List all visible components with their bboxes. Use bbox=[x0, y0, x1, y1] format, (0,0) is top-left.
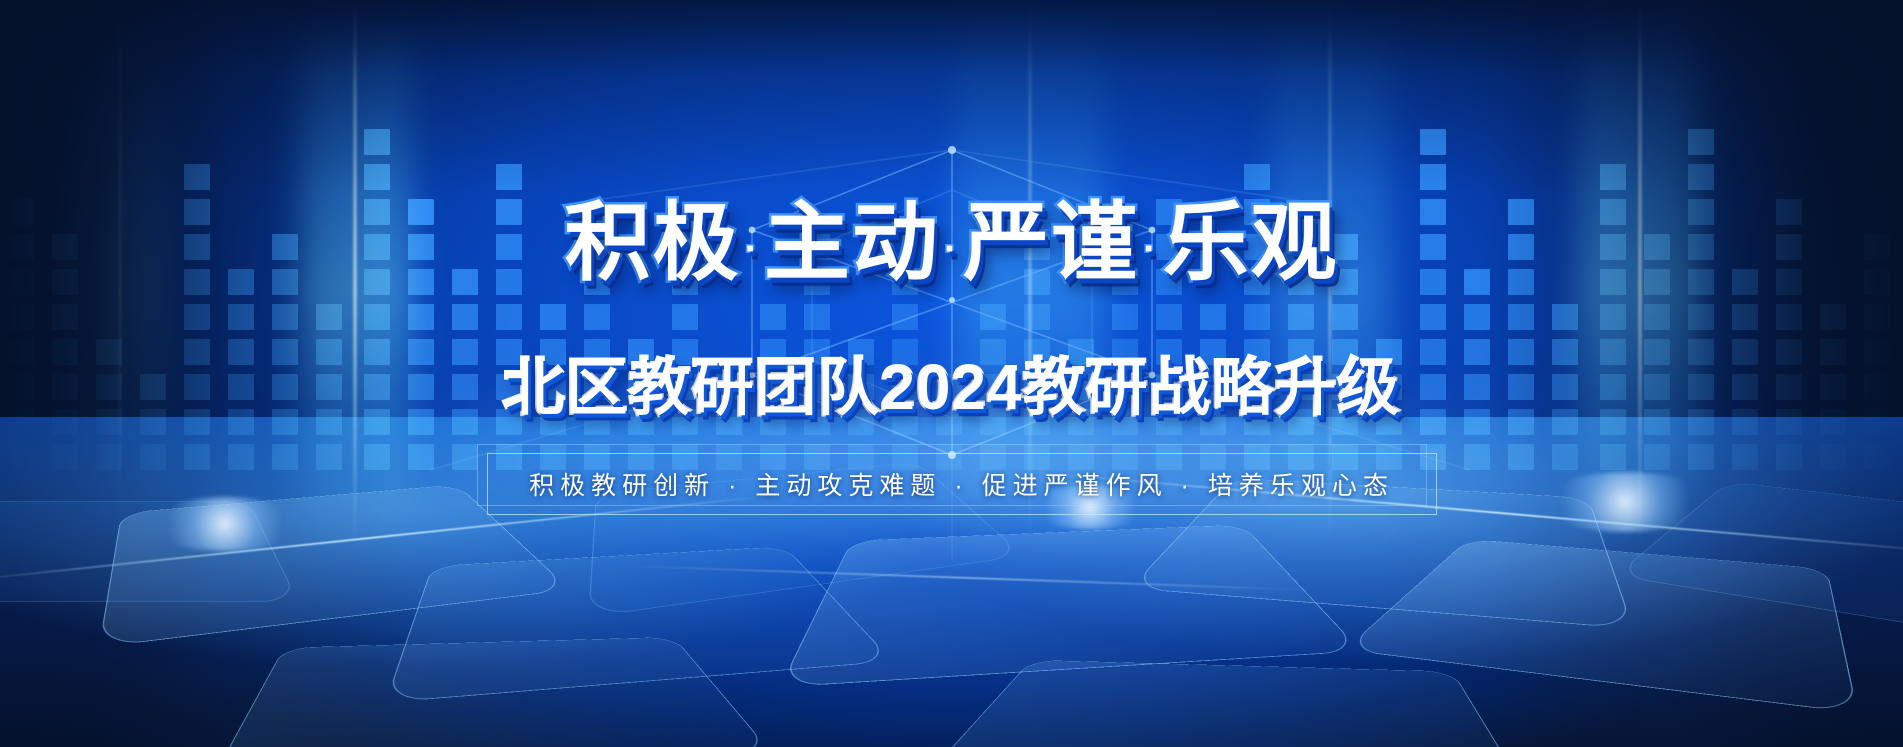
tagline-frame: 积极教研创新 · 主动攻克难题 · 促进严谨作风 · 培养乐观心态 bbox=[487, 453, 1437, 515]
tagline-text: 积极教研创新 · 主动攻克难题 · 促进严谨作风 · 培养乐观心态 bbox=[529, 466, 1394, 502]
sub-title: 北区教研团队2024教研战略升级 bbox=[503, 358, 1401, 420]
title-separator: · bbox=[745, 227, 760, 271]
title-segment: 主动 bbox=[764, 195, 940, 291]
banner-content: 积极·主动·严谨·乐观 北区教研团队2024教研战略升级 bbox=[0, 0, 1903, 747]
hero-banner: 积极·主动·严谨·乐观 北区教研团队2024教研战略升级 积极教研创新 · 主动… bbox=[0, 0, 1903, 747]
title-separator: · bbox=[944, 227, 959, 271]
title-segment: 乐观 bbox=[1162, 195, 1338, 291]
main-title: 积极·主动·严谨·乐观 bbox=[565, 200, 1339, 286]
tagline-container: 积极教研创新 · 主动攻克难题 · 促进严谨作风 · 培养乐观心态 bbox=[477, 450, 1427, 512]
title-separator: · bbox=[1143, 227, 1158, 271]
title-segment: 积极 bbox=[565, 195, 741, 291]
title-segment: 严谨 bbox=[963, 195, 1139, 291]
